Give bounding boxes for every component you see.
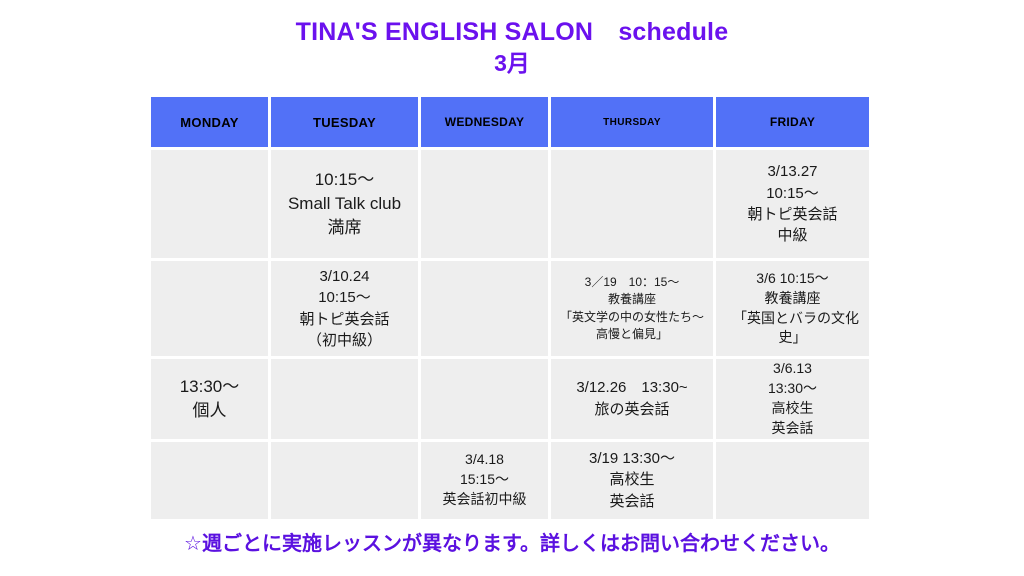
cell-friday-2: 3/6 10:15〜 教養講座 「英国とバラの文化史」 [716, 261, 869, 359]
table-row: 13:30〜 個人 3/12.26 13:30~ 旅の英会話 3/6.13 13… [151, 359, 869, 442]
column-header-friday: FRIDAY [716, 97, 869, 150]
table-row: 3/4.18 15:15〜 英会話初中級 3/19 13:30〜 高校生 英会話 [151, 442, 869, 519]
column-header-tuesday: TUESDAY [271, 97, 421, 150]
cell-thursday-2: 3／19 10：15〜 教養講座 「英文学の中の女性たち〜高慢と偏見」 [551, 261, 716, 359]
title-main: TINA'S ENGLISH SALON schedule [0, 16, 1024, 48]
page-title: TINA'S ENGLISH SALON schedule 3月 [0, 16, 1024, 78]
schedule-slide: TINA'S ENGLISH SALON schedule 3月 MONDAY … [0, 0, 1024, 576]
cell-monday-1 [151, 150, 271, 261]
cell-monday-4 [151, 442, 271, 519]
cell-tuesday-3 [271, 359, 421, 442]
footer-note: ☆週ごとに実施レッスンが異なります。詳しくはお問い合わせください。 [0, 530, 1024, 558]
cell-wednesday-1 [421, 150, 551, 261]
table-row: 3/10.24 10:15〜 朝トピ英会話 （初中級） 3／19 10：15〜 … [151, 261, 869, 359]
cell-thursday-4: 3/19 13:30〜 高校生 英会話 [551, 442, 716, 519]
cell-thursday-3: 3/12.26 13:30~ 旅の英会話 [551, 359, 716, 442]
cell-wednesday-4: 3/4.18 15:15〜 英会話初中級 [421, 442, 551, 519]
cell-tuesday-1: 10:15〜 Small Talk club 満席 [271, 150, 421, 261]
cell-friday-3: 3/6.13 13:30〜 高校生 英会話 [716, 359, 869, 442]
column-header-thursday: THURSDAY [551, 97, 716, 150]
title-month: 3月 [0, 48, 1024, 78]
schedule-table: MONDAY TUESDAY WEDNESDAY THURSDAY FRIDAY… [151, 97, 869, 519]
table-row: 10:15〜 Small Talk club 満席 3/13.27 10:15〜… [151, 150, 869, 261]
cell-friday-4 [716, 442, 869, 519]
cell-friday-1: 3/13.27 10:15〜 朝トピ英会話 中級 [716, 150, 869, 261]
cell-thursday-1 [551, 150, 716, 261]
cell-wednesday-3 [421, 359, 551, 442]
cell-tuesday-4 [271, 442, 421, 519]
cell-monday-3: 13:30〜 個人 [151, 359, 271, 442]
table-header-row: MONDAY TUESDAY WEDNESDAY THURSDAY FRIDAY [151, 97, 869, 150]
cell-monday-2 [151, 261, 271, 359]
cell-wednesday-2 [421, 261, 551, 359]
column-header-wednesday: WEDNESDAY [421, 97, 551, 150]
column-header-monday: MONDAY [151, 97, 271, 150]
cell-tuesday-2: 3/10.24 10:15〜 朝トピ英会話 （初中級） [271, 261, 421, 359]
